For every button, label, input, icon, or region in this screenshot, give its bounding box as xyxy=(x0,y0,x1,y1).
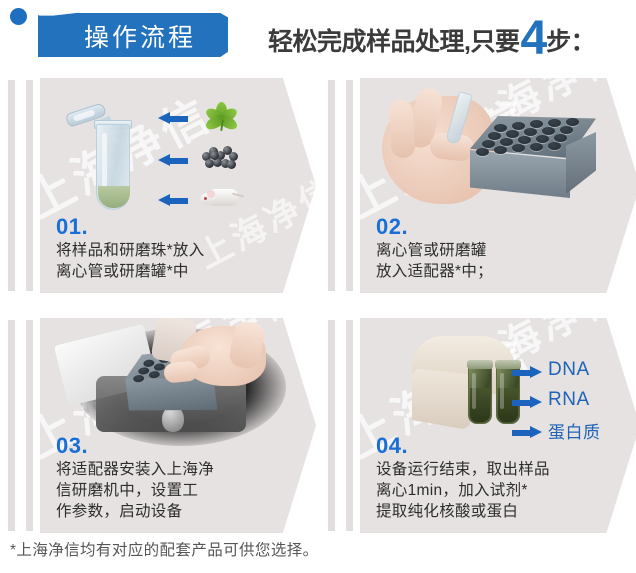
tube-contents xyxy=(98,186,130,208)
finger xyxy=(388,99,416,159)
panel-stripe xyxy=(346,80,353,291)
step-03-illustration xyxy=(66,324,300,452)
hand-icon xyxy=(162,320,274,402)
step-number: 04. xyxy=(376,435,550,457)
headline-suffix: 步： xyxy=(546,22,595,58)
arrow-right-icon xyxy=(512,366,542,379)
step-number: 01. xyxy=(56,216,205,238)
step-panel-01: 上海净信 上海净信 xyxy=(0,78,316,293)
section-title-label: 操作流程 xyxy=(38,13,228,57)
panel-stripe xyxy=(328,80,335,291)
adapter-block-icon xyxy=(470,116,596,202)
panel-stripe xyxy=(8,80,15,291)
grinding-beads-icon xyxy=(202,146,240,170)
panel-stripe xyxy=(328,320,335,531)
step-panel-02: 上海净信 上海净信 xyxy=(320,78,636,293)
output-label-protein: 蛋白质 xyxy=(548,418,601,443)
step-panel-04: 上海净信 上海净信 DNA xyxy=(320,318,636,533)
section-title-banner: 操作流程 xyxy=(38,13,228,57)
mouse-sample-icon xyxy=(200,184,240,209)
page-header: 操作流程 轻松完成样品处理,只要 4 步： xyxy=(0,0,636,72)
step-panel-body: 上海净信 上海净信 xyxy=(40,78,316,293)
step-description: 离心管或研磨罐 放入适配器*中； xyxy=(376,241,493,283)
leaf-sample-icon xyxy=(204,100,238,132)
output-label-dna: DNA xyxy=(548,359,590,381)
step-03-caption: 03. 将适配器安装入上海净 信研磨机中，设置工 作参数，启动设备 xyxy=(56,435,214,523)
step-panel-body: 上海净信 上海净信 xyxy=(360,78,636,293)
footer-note: *上海净信均有对应的配套产品可供您选择。 xyxy=(10,538,319,560)
centrifuge-tube-icon xyxy=(88,106,140,214)
arrow-left-icon xyxy=(158,154,188,167)
step-description: 将样品和研磨珠*放入 离心管或研磨罐*中 xyxy=(56,241,205,283)
step-panel-03: 上海净信 上海净信 xyxy=(0,318,316,533)
arrow-right-icon xyxy=(512,396,542,409)
infographic-page: 操作流程 轻松完成样品处理,只要 4 步： 上海净信 上海净信 xyxy=(0,0,636,573)
step-panel-body: 上海净信 上海净信 xyxy=(40,318,316,533)
arrow-left-icon xyxy=(158,194,188,207)
step-number: 02. xyxy=(376,216,493,238)
panel-stripe xyxy=(8,320,15,531)
panel-stripe xyxy=(346,320,353,531)
headline: 轻松完成样品处理,只要 4 步： xyxy=(268,16,595,58)
steps-grid: 上海净信 上海净信 xyxy=(0,74,636,534)
decorative-dot-icon xyxy=(10,8,27,25)
finger xyxy=(163,360,199,383)
step-01-caption: 01. 将样品和研磨珠*放入 离心管或研磨罐*中 xyxy=(56,216,205,283)
panel-stripe xyxy=(26,320,33,531)
adapter-front-face xyxy=(470,150,570,198)
tube-body xyxy=(96,124,130,210)
step-description: 设备运行结束，取出样品 离心1min，加入试剂* 提取纯化核酸或蛋白 xyxy=(376,460,550,523)
headline-prefix: 轻松完成样品处理,只要 xyxy=(268,22,519,58)
step-description: 将适配器安装入上海净 信研磨机中，设置工 作参数，启动设备 xyxy=(56,460,214,523)
headline-number: 4 xyxy=(520,20,547,58)
step-number: 03. xyxy=(56,435,214,457)
step-04-caption: 04. 设备运行结束，取出样品 离心1min，加入试剂* 提取纯化核酸或蛋白 xyxy=(376,435,550,523)
tube-highlight xyxy=(102,133,107,189)
step-02-caption: 02. 离心管或研磨罐 放入适配器*中； xyxy=(376,216,493,283)
arrow-left-icon xyxy=(158,112,188,125)
step-02-illustration xyxy=(378,86,608,214)
step-panel-body: 上海净信 上海净信 DNA xyxy=(360,318,636,533)
panel-stripe xyxy=(26,80,33,291)
output-label-rna: RNA xyxy=(548,389,590,411)
